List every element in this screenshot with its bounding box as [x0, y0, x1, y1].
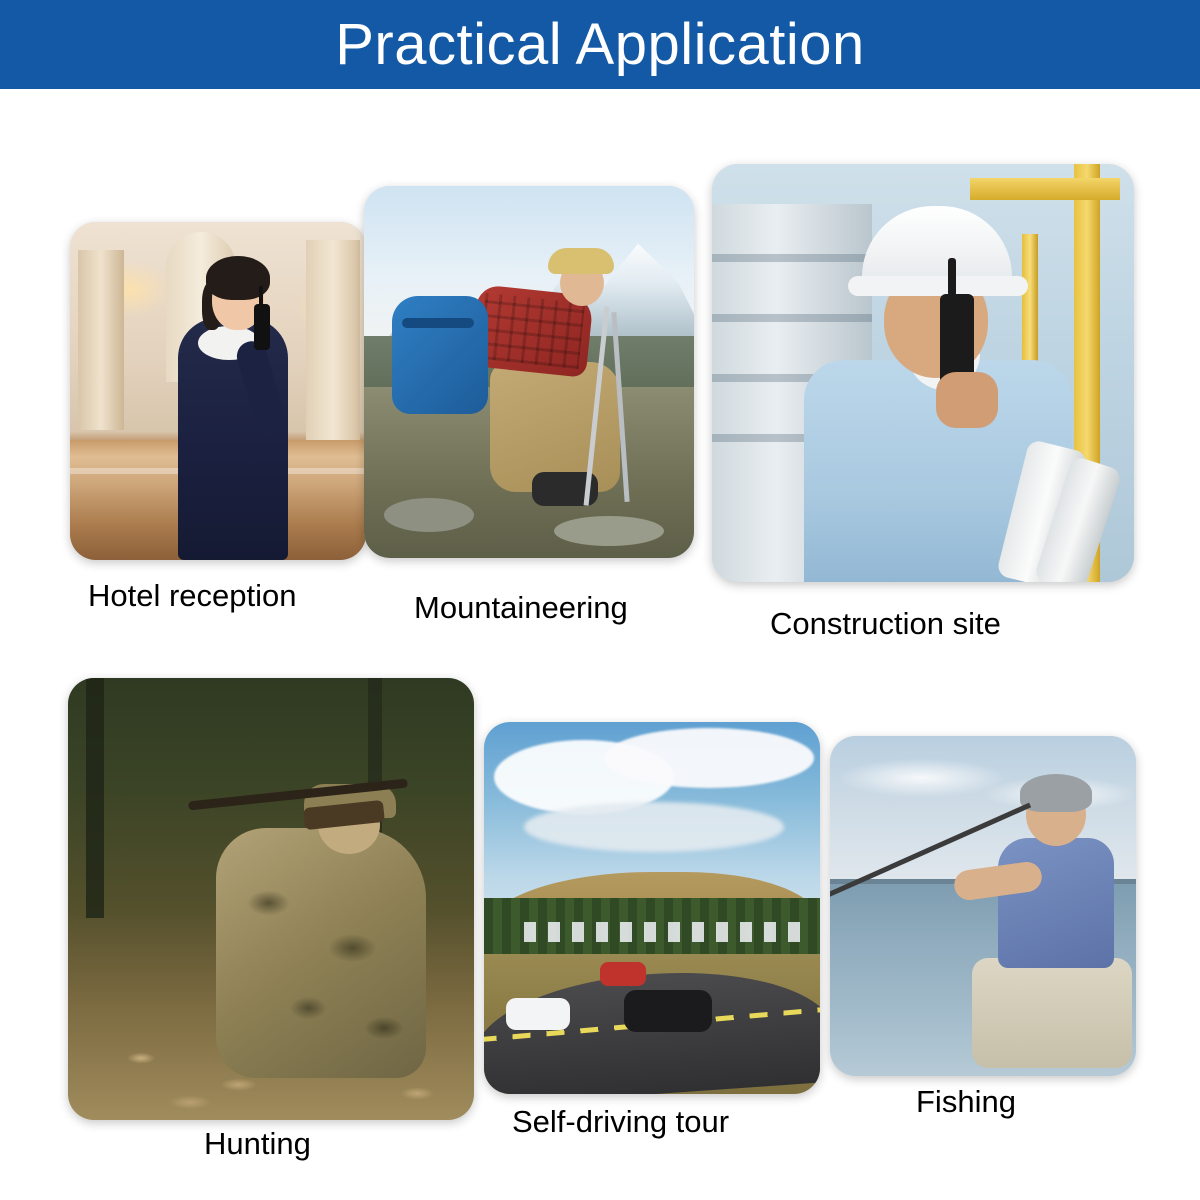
- practical-application-page: Practical Application Hotel reception: [0, 0, 1200, 1200]
- photo-construction-site: [712, 164, 1134, 582]
- walkie-talkie-icon: [254, 304, 270, 350]
- caption-construction-site: Construction site: [770, 606, 1001, 642]
- caption-hotel-reception: Hotel reception: [88, 578, 297, 614]
- caption-mountaineering: Mountaineering: [414, 590, 628, 626]
- caption-self-driving-tour: Self-driving tour: [512, 1104, 729, 1140]
- photo-hunting: [68, 678, 474, 1120]
- photo-card-mountaineering: [364, 186, 694, 558]
- photo-mountaineering: [364, 186, 694, 558]
- photo-card-construction-site: [712, 164, 1134, 582]
- photo-card-hunting: [68, 678, 474, 1120]
- photo-self-driving-tour: [484, 722, 820, 1094]
- caption-hunting: Hunting: [204, 1126, 311, 1162]
- header-banner: Practical Application: [0, 0, 1200, 89]
- photo-fishing: [830, 736, 1136, 1076]
- photo-card-hotel-reception: [70, 222, 366, 560]
- caption-fishing: Fishing: [916, 1084, 1016, 1120]
- photo-card-self-driving-tour: [484, 722, 820, 1094]
- photo-card-fishing: [830, 736, 1136, 1076]
- photo-hotel-reception: [70, 222, 366, 560]
- page-title: Practical Application: [335, 16, 865, 74]
